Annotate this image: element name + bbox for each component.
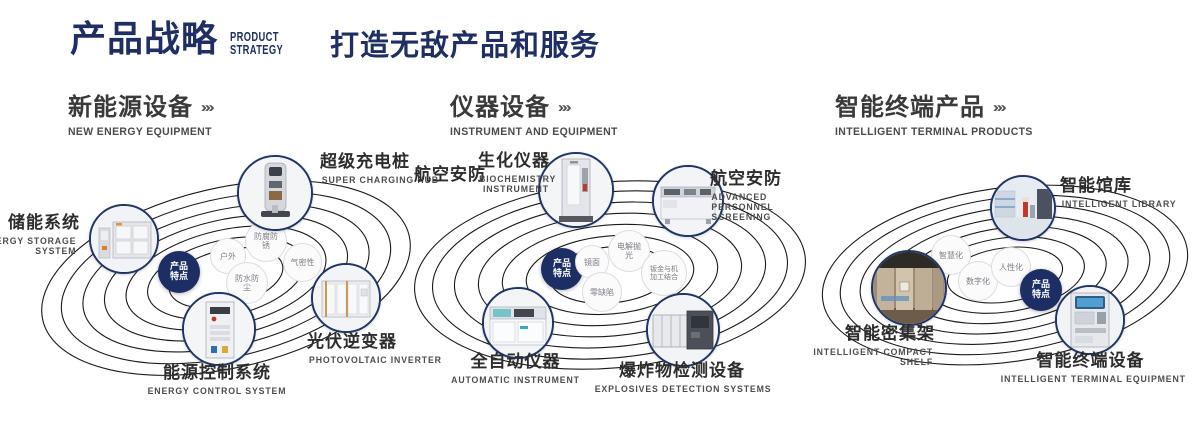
poster-header: 产品战略 PRODUCT STRATEGY — [70, 22, 304, 58]
section-title-cn: 新能源设备 — [68, 95, 193, 119]
diagram-cluster-intelligent-terminal: 智慧化 数字化 人性化 产品 特点 — [815, 155, 1195, 405]
node-super-charging-hub[interactable] — [237, 155, 313, 231]
automatic-analyzer-icon — [484, 289, 552, 357]
feature-core-bubble: 产品 特点 — [1020, 269, 1062, 311]
node-label-automatic-instrument: 全自动仪器 AUTOMATIC INSTRUMENT — [438, 353, 593, 385]
node-label-biochemistry-instrument: 生化仪器 BIOCHEMISTRY INSTRUMENT — [478, 152, 550, 194]
node-energy-storage-system[interactable] — [89, 204, 159, 274]
node-photovoltaic-inverter[interactable] — [311, 263, 381, 333]
charging-pile-icon — [239, 157, 311, 229]
feature-bubble-zero-defect: 零缺陷 — [582, 272, 622, 312]
biochemistry-scanner-icon — [540, 154, 612, 226]
section-title-new-energy: 新能源设备 ››› NEW ENERGY EQUIPMENT — [68, 95, 219, 138]
chevron-right-icon: ››› — [201, 99, 213, 116]
explosives-detector-icon — [648, 295, 718, 365]
node-label-intelligent-compact-shelf: 智能密集架 INTELLIGENT COMPACT SHELF — [805, 325, 935, 367]
node-label-aviation-security-left: 航空安防 — [414, 166, 486, 185]
node-intelligent-compact-shelf[interactable] — [871, 250, 947, 326]
page-title-english-line2: STRATEGY — [230, 43, 283, 56]
node-label-energy-storage-system: 储能系统 ENERGY STORAGE SYSTEM — [0, 214, 80, 256]
node-label-explosives-detection-systems: 爆炸物检测设备 EXPLOSIVES DETECTION SYSTEMS — [592, 362, 772, 394]
node-label-intelligent-terminal-equipment: 智能终端设备 INTELLIGENT TERMINAL EQUIPMENT — [998, 352, 1183, 384]
smart-library-room-icon — [992, 177, 1054, 239]
node-label-advanced-personnel-screening: 航空安防 ADVANCED PERSONNEL SCREENING — [710, 170, 805, 222]
energy-storage-cabinet-icon — [91, 206, 157, 272]
diagram-cluster-instrument: 产品 特点 镜面 电解抛光 零缺陷 钣金与机加工结合 航 — [410, 150, 810, 405]
node-label-intelligent-library: 智能馆库 INTELLIGENT LIBRARY — [1060, 177, 1178, 209]
poster-canvas: 产品战略 PRODUCT STRATEGY 打造无敌产品和服务 新能源设备 ››… — [0, 0, 1200, 422]
node-energy-control-system[interactable] — [182, 292, 256, 366]
page-title: 产品战略 — [70, 22, 218, 58]
section-title-en: INTELLIGENT TERMINAL PRODUCTS — [835, 126, 1033, 138]
compact-shelving-icon — [873, 252, 945, 324]
self-service-kiosk-icon — [1057, 287, 1123, 353]
feature-core-bubble: 产品 特点 — [158, 251, 200, 293]
page-subtitle: 打造无敌产品和服务 — [330, 28, 600, 63]
section-title-en: NEW ENERGY EQUIPMENT — [68, 126, 212, 138]
section-title-cn: 仪器设备 — [450, 95, 550, 119]
section-title-intelligent-terminal: 智能终端产品 ››› INTELLIGENT TERMINAL PRODUCTS — [835, 95, 1043, 138]
feature-bubble-sheetmetal-machining: 钣金与机加工结合 — [641, 250, 687, 296]
section-title-en: INSTRUMENT AND EQUIPMENT — [450, 126, 618, 138]
section-title-cn: 智能终端产品 — [835, 95, 985, 119]
pv-inverter-cabinet-icon — [313, 265, 379, 331]
section-title-instrument: 仪器设备 ››› INSTRUMENT AND EQUIPMENT — [450, 95, 627, 138]
node-automatic-instrument[interactable] — [482, 287, 554, 359]
page-title-english: PRODUCT STRATEGY — [230, 30, 283, 56]
chevron-right-icon: ››› — [558, 99, 570, 116]
control-cabinet-icon — [184, 294, 254, 364]
chevron-right-icon: ››› — [993, 99, 1005, 116]
node-intelligent-terminal-equipment[interactable] — [1055, 285, 1125, 355]
node-intelligent-library[interactable] — [990, 175, 1056, 241]
diagram-cluster-new-energy: 产品 特点 户外 防腐防锈 防水防尘 气密性 — [30, 150, 420, 405]
node-label-energy-control-system: 能源控制系统 ENERGY CONTROL SYSTEM — [82, 364, 352, 396]
node-explosives-detection-systems[interactable] — [646, 293, 720, 367]
